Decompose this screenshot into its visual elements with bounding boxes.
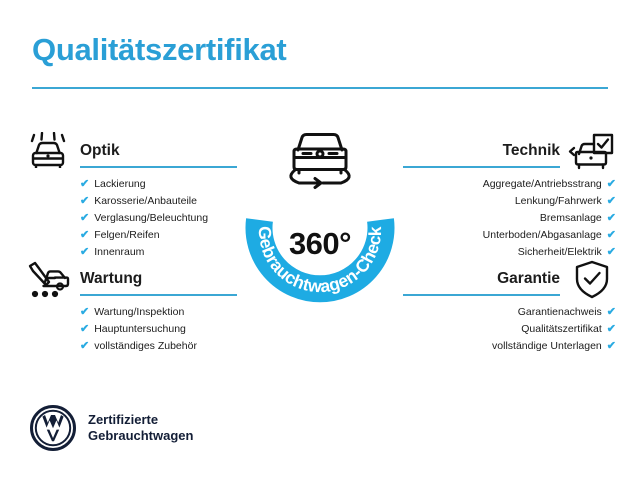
list-item: ✔Hauptuntersuchung: [80, 321, 237, 338]
vw-logo-icon: [30, 405, 76, 451]
list-item-label: Lenkung/Fahrwerk: [515, 193, 602, 210]
list-item: ✔Lenkung/Fahrwerk: [403, 193, 616, 210]
check-icon: ✔: [607, 307, 616, 318]
car-rotate-icon: [279, 128, 361, 190]
check-icon: ✔: [607, 324, 616, 335]
section-header-garantie: Garantie: [403, 258, 618, 304]
section-header-optik: Optik: [22, 130, 237, 176]
header-divider: [32, 87, 608, 89]
list-item-label: Qualitätszertifikat: [521, 321, 602, 338]
check-icon: ✔: [80, 247, 89, 258]
check-icon: ✔: [607, 230, 616, 241]
check-icon: ✔: [607, 196, 616, 207]
section-divider-wartung: [80, 294, 237, 296]
list-item-label: Lackierung: [94, 176, 145, 193]
check-icon: ✔: [80, 179, 89, 190]
check-icon: ✔: [607, 341, 616, 352]
list-item-label: Aggregate/Antriebsstrang: [483, 176, 602, 193]
list-item-label: Bremsanlage: [540, 210, 602, 227]
vw-logo-text: Zertifizierte Gebrauchtwagen: [88, 412, 193, 444]
section-title-technik: Technik: [503, 142, 560, 160]
checklist-garantie: ✔Garantienachweis ✔Qualitätszertifikat ✔…: [403, 304, 616, 355]
check-icon: ✔: [80, 230, 89, 241]
list-item-label: vollständiges Zubehör: [94, 338, 197, 355]
list-item: ✔Garantienachweis: [403, 304, 616, 321]
list-item: ✔Lackierung: [80, 176, 237, 193]
badge-center-text: 360°: [237, 226, 403, 262]
section-title-garantie: Garantie: [497, 270, 560, 288]
list-item-label: Wartung/Inspektion: [94, 304, 184, 321]
vw-certified-logo: Zertifizierte Gebrauchtwagen: [30, 405, 193, 451]
section-divider-technik: [403, 166, 560, 168]
list-item: ✔Qualitätszertifikat: [403, 321, 616, 338]
list-item: ✔Bremsanlage: [403, 210, 616, 227]
vw-logo-line1: Zertifizierte: [88, 412, 193, 428]
list-item: ✔Verglasung/Beleuchtung: [80, 210, 237, 227]
section-divider-optik: [80, 166, 237, 168]
list-item: ✔Wartung/Inspektion: [80, 304, 237, 321]
list-item-label: vollständige Unterlagen: [492, 338, 602, 355]
list-item-label: Garantienachweis: [518, 304, 602, 321]
section-title-wartung: Wartung: [80, 270, 142, 288]
certificate-page: Qualitätszertifikat: [0, 0, 640, 480]
check-icon: ✔: [607, 179, 616, 190]
section-wartung: Wartung ✔Wartung/Inspektion ✔Hauptunters…: [22, 258, 237, 355]
list-item: ✔Aggregate/Antriebsstrang: [403, 176, 616, 193]
list-item-label: Verglasung/Beleuchtung: [94, 210, 208, 227]
check-icon: ✔: [80, 213, 89, 224]
gebrauchtwagen-check-badge: Gebrauchtwagen-Check 360°: [237, 128, 403, 314]
check-icon: ✔: [607, 247, 616, 258]
page-title: Qualitätszertifikat: [32, 32, 286, 68]
section-header-wartung: Wartung: [22, 258, 237, 304]
list-item-label: Karosserie/Anbauteile: [94, 193, 197, 210]
checklist-optik: ✔Lackierung ✔Karosserie/Anbauteile ✔Verg…: [80, 176, 237, 261]
list-item: ✔Karosserie/Anbauteile: [80, 193, 237, 210]
list-item: ✔vollständiges Zubehör: [80, 338, 237, 355]
check-icon: ✔: [80, 196, 89, 207]
shield-check-icon: [566, 258, 618, 302]
section-technik: Technik ✔Aggregate/Antriebsstrang ✔Lenku…: [403, 130, 618, 261]
list-item: ✔Unterboden/Abgasanlage: [403, 227, 616, 244]
section-title-optik: Optik: [80, 142, 120, 160]
car-wrench-icon: [22, 258, 74, 302]
checklist-technik: ✔Aggregate/Antriebsstrang ✔Lenkung/Fahrw…: [403, 176, 616, 261]
list-item: ✔Felgen/Reifen: [80, 227, 237, 244]
section-header-technik: Technik: [403, 130, 618, 176]
check-icon: ✔: [80, 341, 89, 352]
check-icon: ✔: [80, 307, 89, 318]
vw-logo-line2: Gebrauchtwagen: [88, 428, 193, 444]
list-item-label: Unterboden/Abgasanlage: [483, 227, 602, 244]
section-optik: Optik ✔Lackierung ✔Karosserie/Anbauteile…: [22, 130, 237, 261]
car-shine-icon: [22, 130, 74, 174]
section-divider-garantie: [403, 294, 560, 296]
section-garantie: Garantie ✔Garantienachweis ✔Qualitätszer…: [403, 258, 618, 355]
checklist-wartung: ✔Wartung/Inspektion ✔Hauptuntersuchung ✔…: [80, 304, 237, 355]
car-checkbox-icon: [566, 130, 618, 174]
list-item-label: Felgen/Reifen: [94, 227, 159, 244]
list-item: ✔vollständige Unterlagen: [403, 338, 616, 355]
check-icon: ✔: [80, 324, 89, 335]
list-item-label: Hauptuntersuchung: [94, 321, 186, 338]
check-icon: ✔: [607, 213, 616, 224]
